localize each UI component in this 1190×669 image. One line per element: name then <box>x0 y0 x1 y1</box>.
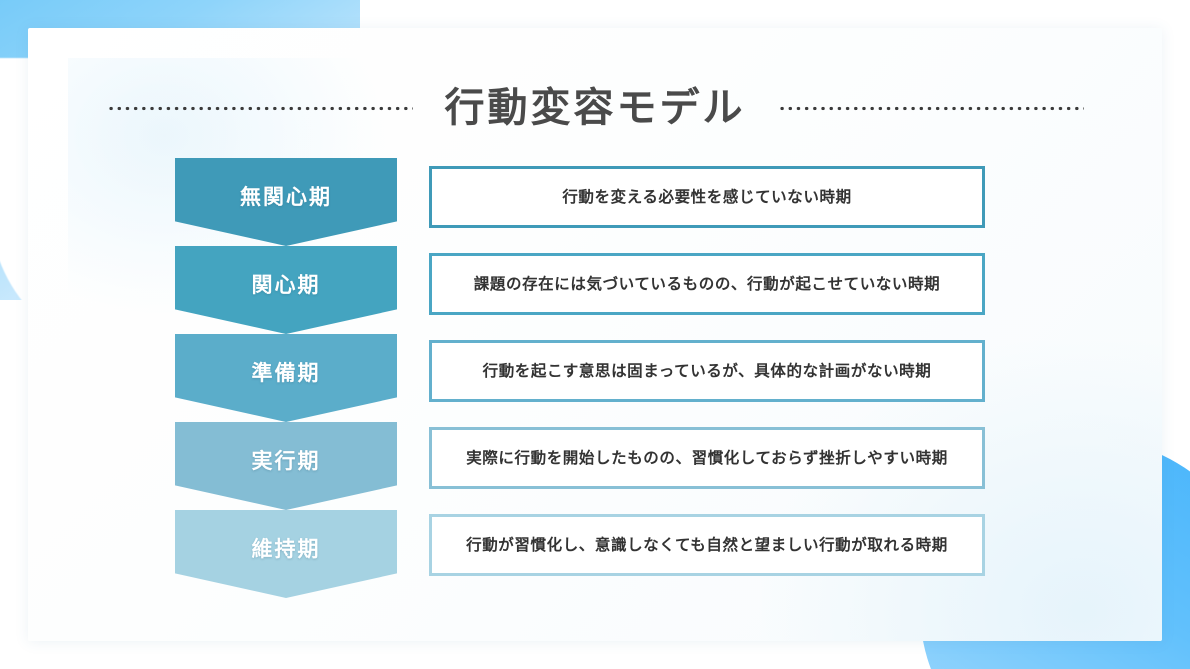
stage-chevron-4[interactable]: 実行期 <box>175 422 397 510</box>
stage-label-3: 準備期 <box>252 357 321 387</box>
stage-chevron-5[interactable]: 維持期 <box>175 510 397 598</box>
description-text-1: 行動を変える必要性を感じていない時期 <box>562 188 851 207</box>
stage-label-5: 維持期 <box>252 533 321 563</box>
description-box-2: 課題の存在には気づいているものの、行動が起こせていない時期 <box>429 253 985 315</box>
stage-chevron-3[interactable]: 準備期 <box>175 334 397 422</box>
behavior-change-diagram: 無関心期 関心期 準備期 実行期 維持期 行動を変える必要性を感じていない時期 … <box>28 158 1162 598</box>
description-box-4: 実際に行動を開始したものの、習慣化しておらず挫折しやすい時期 <box>429 427 985 489</box>
description-box-5: 行動が習慣化し、意識しなくても自然と望ましい行動が取れる時期 <box>429 514 985 576</box>
stage-label-4: 実行期 <box>252 445 321 475</box>
content-card: 行動変容モデル 無関心期 関心期 準備期 実行期 維持期 行動を変える必要性を感… <box>28 28 1162 641</box>
description-text-4: 実際に行動を開始したものの、習慣化しておらず挫折しやすい時期 <box>466 449 948 468</box>
dotted-rule-left <box>107 106 413 111</box>
dotted-rule-right <box>778 106 1084 111</box>
title-row: 行動変容モデル <box>28 76 1162 140</box>
stage-label-2: 関心期 <box>252 269 321 299</box>
description-box-3: 行動を起こす意思は固まっているが、具体的な計画がない時期 <box>429 340 985 402</box>
description-text-2: 課題の存在には気づいているものの、行動が起こせていない時期 <box>474 275 940 294</box>
stage-funnel: 無関心期 関心期 準備期 実行期 維持期 <box>175 158 397 598</box>
description-list: 行動を変える必要性を感じていない時期 課題の存在には気づいているものの、行動が起… <box>429 158 1162 576</box>
stage-chevron-2[interactable]: 関心期 <box>175 246 397 334</box>
description-box-1: 行動を変える必要性を感じていない時期 <box>429 166 985 228</box>
description-text-3: 行動を起こす意思は固まっているが、具体的な計画がない時期 <box>483 362 932 381</box>
description-text-5: 行動が習慣化し、意識しなくても自然と望ましい行動が取れる時期 <box>466 536 948 555</box>
page-title: 行動変容モデル <box>445 88 746 128</box>
stage-chevron-1[interactable]: 無関心期 <box>175 158 397 246</box>
stage-label-1: 無関心期 <box>240 181 332 211</box>
